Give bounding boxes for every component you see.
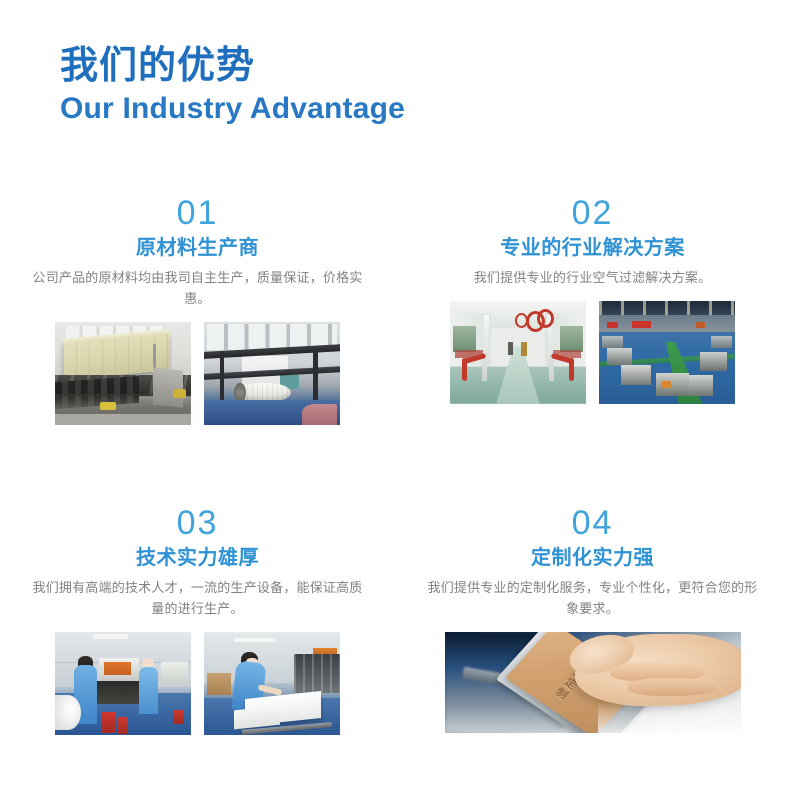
photo-factory-floor bbox=[599, 301, 735, 404]
advantage-card-04: 04 定制化实力强 我们提供专业的定制化服务，专业个性化，更符合您的形象要求。 … bbox=[395, 496, 790, 806]
card-description: 公司产品的原材料均由我司自主生产，质量保证，价格实惠。 bbox=[33, 268, 363, 310]
advantage-card-03: 03 技术实力雄厚 我们拥有高端的技术人才，一流的生产设备，能保证高质量的进行生… bbox=[0, 496, 395, 806]
card-number: 03 bbox=[177, 506, 219, 540]
card-number: 02 bbox=[572, 196, 614, 230]
photo-subway-interior bbox=[450, 301, 586, 404]
page-header: 我们的优势 Our Industry Advantage bbox=[60, 46, 620, 127]
photo-fabric-roll-machine bbox=[204, 322, 340, 425]
page-title-cn: 我们的优势 bbox=[60, 46, 620, 87]
advantage-card-grid: 01 原材料生产商 公司产品的原材料均由我司自主生产，质量保证，价格实惠。 bbox=[0, 186, 790, 806]
card-photo-strip bbox=[55, 632, 340, 735]
card-title: 原材料生产商 bbox=[136, 236, 259, 261]
card-title: 技术实力雄厚 bbox=[136, 546, 259, 571]
card-description: 我们拥有高端的技术人才，一流的生产设备，能保证高质量的进行生产。 bbox=[33, 578, 363, 620]
photo-custom-wooden-stamp: 专 业 定 制 bbox=[445, 632, 741, 733]
card-number: 01 bbox=[177, 196, 219, 230]
card-photo-strip bbox=[55, 322, 340, 425]
card-description: 我们提供专业的定制化服务，专业个性化，更符合您的形象要求。 bbox=[428, 578, 758, 620]
photo-technician-worktable bbox=[204, 632, 340, 735]
page-title-en: Our Industry Advantage bbox=[60, 91, 620, 127]
card-photo-strip: 专 业 定 制 bbox=[445, 632, 741, 733]
card-title: 定制化实力强 bbox=[531, 546, 654, 571]
photo-raw-material-line bbox=[55, 322, 191, 425]
card-number: 04 bbox=[572, 506, 614, 540]
card-description: 我们提供专业的行业空气过滤解决方案。 bbox=[428, 268, 758, 289]
advantage-card-02: 02 专业的行业解决方案 我们提供专业的行业空气过滤解决方案。 bbox=[395, 186, 790, 496]
card-photo-strip bbox=[450, 301, 735, 404]
advantage-card-01: 01 原材料生产商 公司产品的原材料均由我司自主生产，质量保证，价格实惠。 bbox=[0, 186, 395, 496]
photo-cleanroom-workers bbox=[55, 632, 191, 735]
card-title: 专业的行业解决方案 bbox=[500, 236, 685, 261]
